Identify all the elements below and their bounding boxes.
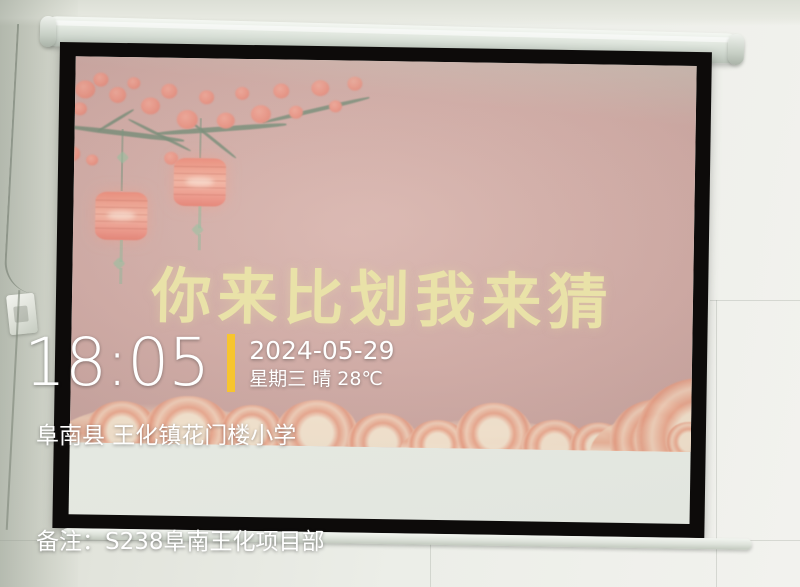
photo-canvas: 你来比划我来猜 18:05 2024-05-29 星期三 晴 28℃ 阜南县 王… bbox=[0, 0, 800, 587]
projection-screen-surface: 你来比划我来猜 bbox=[69, 56, 697, 524]
clock-time: 18:05 bbox=[24, 330, 209, 396]
timestamp-watermark: 18:05 2024-05-29 星期三 晴 28℃ 阜南县 王化镇花门楼小学 bbox=[0, 330, 800, 450]
roller-end-cap-left bbox=[40, 16, 57, 47]
watermark-location: 阜南县 王化镇花门楼小学 bbox=[0, 416, 800, 450]
roller-end-cap-right bbox=[728, 34, 745, 65]
wall-tile-seam bbox=[430, 540, 431, 587]
timestamp-detail-column: 2024-05-29 星期三 晴 28℃ bbox=[249, 338, 394, 389]
red-lantern bbox=[95, 192, 148, 241]
watermark-date: 2024-05-29 bbox=[249, 338, 394, 363]
wall-tile-seam bbox=[710, 300, 800, 301]
timestamp-main-row: 18:05 2024-05-29 星期三 晴 28℃ bbox=[0, 330, 800, 396]
projection-screen-frame: 你来比划我来猜 bbox=[52, 42, 712, 538]
plum-blossom-branch-icon bbox=[70, 58, 396, 213]
watermark-note: 备注：S238阜南王化项目部 bbox=[0, 522, 325, 556]
red-lantern bbox=[173, 158, 226, 207]
watermark-weekday-weather: 星期三 晴 28℃ bbox=[249, 370, 394, 389]
watermark-divider bbox=[227, 334, 235, 392]
